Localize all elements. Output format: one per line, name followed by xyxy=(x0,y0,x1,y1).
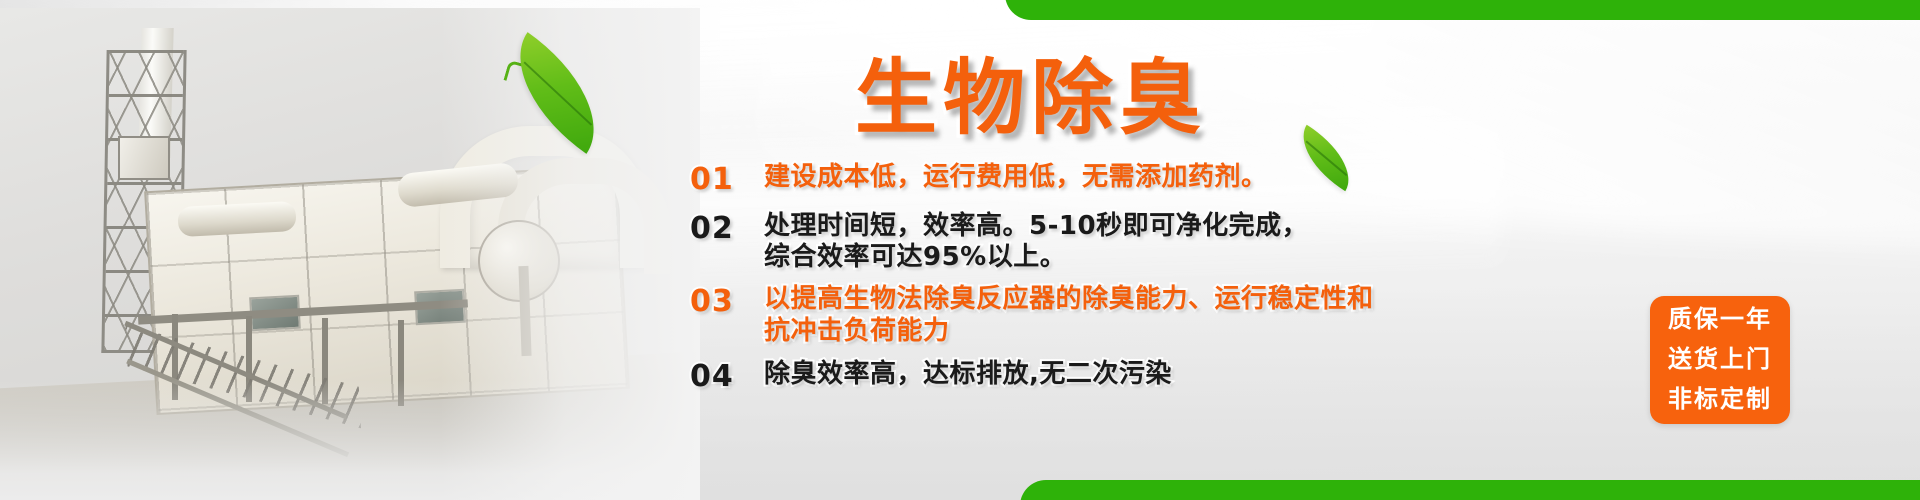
feature-text: 以提高生物法除臭反应器的除臭能力、运行稳定性和 抗冲击负荷能力 xyxy=(764,284,1690,347)
equipment-photo xyxy=(0,8,700,500)
feature-number: 04 xyxy=(690,359,764,396)
guarantee-badge[interactable]: 质保一年 送货上门 非标定制 xyxy=(1650,296,1790,424)
feature-item-04: 04 除臭效率高，达标排放,无二次污染 xyxy=(690,359,1690,396)
feature-number: 03 xyxy=(690,284,764,321)
feature-item-01: 01 建设成本低，运行费用低，无需添加药剂。 xyxy=(690,162,1690,199)
feature-item-02: 02 处理时间短，效率高。5-10秒即可净化完成， 综合效率可达95%以上。 xyxy=(690,211,1690,274)
badge-line-delivery: 送货上门 xyxy=(1668,340,1772,380)
banner-content: 生物除臭 01 建设成本低，运行费用低，无需添加药剂。 02 处理时间短，效率高… xyxy=(690,0,1690,500)
feature-item-03: 03 以提高生物法除臭反应器的除臭能力、运行稳定性和 抗冲击负荷能力 xyxy=(690,284,1690,347)
promo-banner: 生物除臭 01 建设成本低，运行费用低，无需添加药剂。 02 处理时间短，效率高… xyxy=(0,0,1920,500)
feature-text: 建设成本低，运行费用低，无需添加药剂。 xyxy=(764,162,1690,194)
photo-pipe-inlet xyxy=(177,201,296,237)
photo-tower-platform-box xyxy=(118,136,170,180)
page-title: 生物除臭 xyxy=(855,58,1207,140)
feature-text: 处理时间短，效率高。5-10秒即可净化完成， 综合效率可达95%以上。 xyxy=(764,211,1690,274)
feature-number: 01 xyxy=(690,162,764,199)
feature-list: 01 建设成本低，运行费用低，无需添加药剂。 02 处理时间短，效率高。5-10… xyxy=(690,162,1690,404)
badge-line-warranty: 质保一年 xyxy=(1668,300,1772,340)
feature-number: 02 xyxy=(690,211,764,248)
feature-text: 除臭效率高，达标排放,无二次污染 xyxy=(764,359,1690,391)
badge-line-custom: 非标定制 xyxy=(1668,380,1772,420)
